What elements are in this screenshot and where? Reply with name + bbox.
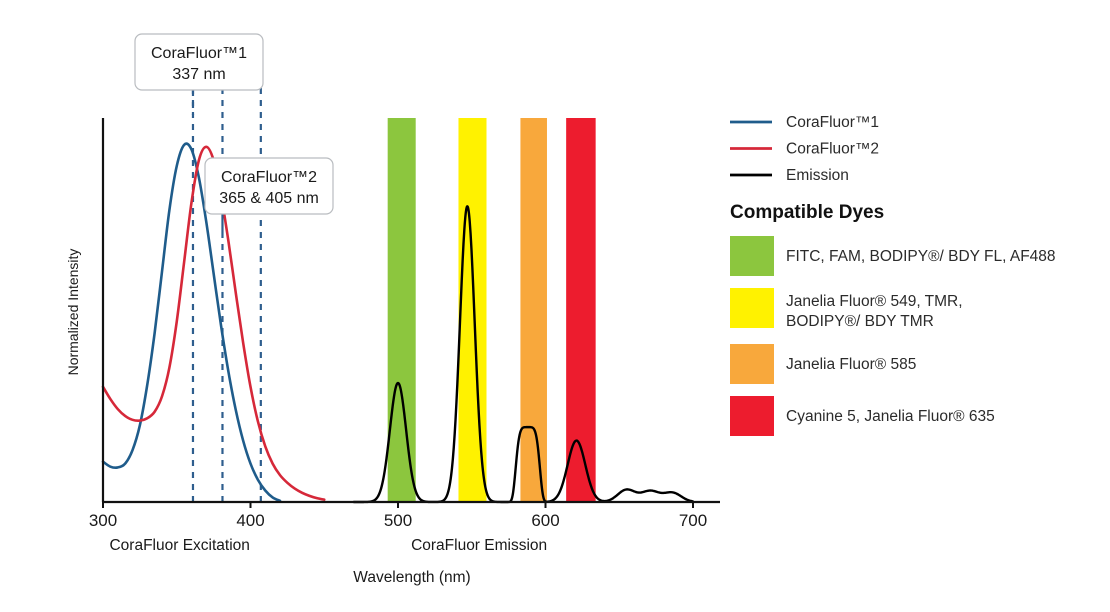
axis-section-label-0: CoraFluor Excitation: [109, 537, 249, 554]
callout-corafluor-2-line2: 365 & 405 nm: [219, 190, 319, 207]
spectra-chart-figure: 300400500600700 CoraFluor ExcitationCora…: [0, 0, 1110, 612]
axis-section-labels: CoraFluor ExcitationCoraFluor Emission: [109, 537, 547, 554]
callout-corafluor-1-line1: CoraFluor™1: [151, 45, 247, 62]
dye-label-1-1: BODIPY®/ BDY TMR: [786, 313, 934, 330]
dye-legend-item-3: Cyanine 5, Janelia Fluor® 635: [730, 396, 995, 436]
x-tick-label-500: 500: [384, 511, 412, 530]
chart-legend: CoraFluor™1CoraFluor™2EmissionCompatible…: [730, 114, 1056, 436]
x-tick-label-400: 400: [236, 511, 264, 530]
legend-series-item-0: CoraFluor™1: [730, 114, 879, 131]
axis-section-label-1: CoraFluor Emission: [411, 537, 547, 554]
x-tick-label-600: 600: [531, 511, 559, 530]
y-axis-title: Normalized Intensity: [65, 249, 81, 376]
x-axis-ticks: 300400500600700: [89, 502, 707, 530]
dye-color-swatch-2: [730, 344, 774, 384]
legend-series-item-1: CoraFluor™2: [730, 141, 879, 158]
legend-series-label-0: CoraFluor™1: [786, 114, 879, 131]
yellow-band: [458, 118, 486, 502]
dye-color-swatch-3: [730, 396, 774, 436]
dye-label-1-0: Janelia Fluor® 549, TMR,: [786, 293, 963, 310]
dye-label-3-0: Cyanine 5, Janelia Fluor® 635: [786, 408, 995, 425]
callout-corafluor-1-line2: 337 nm: [172, 66, 225, 83]
dye-label-2-0: Janelia Fluor® 585: [786, 356, 916, 373]
dye-legend-item-0: FITC, FAM, BODIPY®/ BDY FL, AF488: [730, 236, 1056, 276]
dye-label-0-0: FITC, FAM, BODIPY®/ BDY FL, AF488: [786, 248, 1056, 265]
legend-series-label-1: CoraFluor™2: [786, 141, 879, 158]
x-tick-label-300: 300: [89, 511, 117, 530]
dye-color-swatch-1: [730, 288, 774, 328]
x-axis-title: Wavelength (nm): [353, 569, 470, 586]
legend-series-item-2: Emission: [730, 167, 849, 184]
dye-color-swatch-0: [730, 236, 774, 276]
compatible-dyes-heading: Compatible Dyes: [730, 202, 884, 223]
callout-corafluor-2-line1: CoraFluor™2: [221, 169, 317, 186]
dye-legend-item-1: Janelia Fluor® 549, TMR,BODIPY®/ BDY TMR: [730, 288, 963, 330]
dye-legend-item-2: Janelia Fluor® 585: [730, 344, 916, 384]
legend-series-label-2: Emission: [786, 167, 849, 184]
callout-corafluor-1: CoraFluor™1337 nm: [135, 34, 263, 115]
green-band: [388, 118, 416, 502]
annotation-callouts: CoraFluor™1337 nmCoraFluor™2365 & 405 nm: [135, 34, 333, 232]
x-tick-label-700: 700: [679, 511, 707, 530]
orange-band: [520, 118, 547, 502]
emission-filter-bands: [388, 118, 596, 502]
